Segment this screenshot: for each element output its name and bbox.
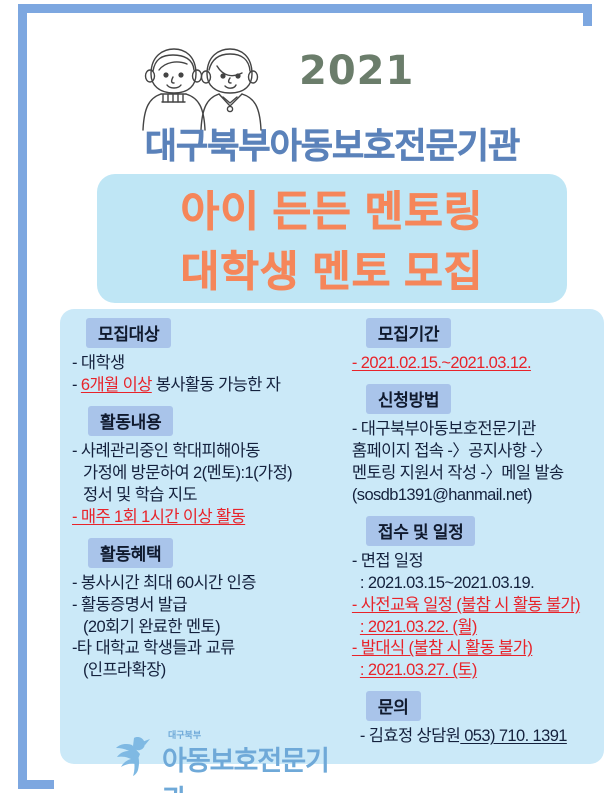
section-heading: 접수 및 일정 [366, 516, 476, 546]
section-line: -타 대학교 학생들과 교류 [72, 638, 346, 660]
title-banner: 아이 든든 멘토링 대학생 멘토 모집 [97, 174, 567, 303]
section-line: (20회기 완료한 멘토) [72, 617, 346, 639]
title-line-1: 아이 든든 멘토링 [97, 182, 567, 242]
year-label: 2021 [299, 48, 414, 94]
section-line-highlight: - 매주 1회 1시간 이상 활동 [72, 507, 346, 529]
section-line: - 봉사시간 최대 60시간 인증 [72, 573, 346, 595]
right-column: 모집기간 - 2021.02.15.~2021.03.12. 신청방법 - 대구… [346, 318, 600, 760]
section-line: - 사례관리중인 학대피해아동 [72, 441, 346, 463]
section-line: - 대구북부아동보호전문기관 [352, 419, 600, 441]
section-heading: 모집기간 [366, 318, 451, 348]
section-line-highlight: - 발대식 (불참 시 활동 불가) [352, 638, 600, 660]
section-activity-benefit: 활동혜택 - 봉사시간 최대 60시간 인증 - 활동증명서 발급 (20회기 … [72, 538, 346, 683]
section-heading: 활동혜택 [88, 538, 173, 568]
footer-logo: 대구북부 아동보호전문기관 [112, 726, 342, 784]
section-line: 멘토링 지원서 작성 -〉메일 발송 [352, 463, 600, 485]
section-line: (인프라확장) [72, 660, 346, 682]
section-heading: 신청방법 [366, 384, 451, 414]
poster-header: 2021 대구북부아동보호전문기관 [54, 26, 610, 166]
section-line: 홈페이지 접속 -〉공지사항 -〉 [352, 441, 600, 463]
poster-root: 2021 대구북부아동보호전문기관 아이 든든 멘토링 대학생 멘토 모집 모집… [0, 0, 610, 805]
line-suffix: 봉사활동 가능한 자 [152, 376, 281, 394]
contact-phone: 053) 710. 1391 [460, 727, 567, 745]
section-line-email: (sosdb1391@hanmail.net) [352, 485, 600, 507]
line-highlight: - 사전교육 일정 (불참 시 활동 불가) [352, 596, 580, 614]
poster-outer-frame: 2021 대구북부아동보호전문기관 아이 든든 멘토링 대학생 멘토 모집 모집… [18, 4, 592, 789]
section-line-contact: - 김효정 상담원 053) 710. 1391 [352, 726, 600, 748]
section-activity-content: 활동내용 - 사례관리중인 학대피해아동 가정에 방문하여 2(멘토):1(가정… [72, 406, 346, 529]
section-line-highlight: - 사전교육 일정 (불참 시 활동 불가) [352, 595, 600, 617]
section-application-method: 신청방법 - 대구북부아동보호전문기관 홈페이지 접속 -〉공지사항 -〉 멘토… [352, 384, 600, 507]
line-highlight: - 발대식 (불참 시 활동 불가) [352, 639, 532, 657]
section-line: - 활동증명서 발급 [72, 595, 346, 617]
section-line-highlight: - 2021.02.15.~2021.03.12. [352, 353, 600, 375]
section-line: 정서 및 학습 지도 [72, 485, 346, 507]
section-heading: 모집대상 [86, 318, 171, 348]
section-line: - 면접 일정 [352, 551, 600, 573]
section-line: - 6개월 이상 봉사활동 가능한 자 [72, 375, 346, 397]
section-recruit-period: 모집기간 - 2021.02.15.~2021.03.12. [352, 318, 600, 375]
poster-inner-canvas: 2021 대구북부아동보호전문기관 아이 든든 멘토링 대학생 멘토 모집 모집… [54, 26, 610, 793]
line-highlight: 6개월 이상 [81, 376, 152, 394]
line-highlight: : 2021.03.22. (월) [360, 618, 477, 636]
line-highlight: - 2021.02.15.~2021.03.12. [352, 354, 531, 372]
bird-logo-icon [112, 732, 158, 778]
section-heading: 문의 [366, 691, 421, 721]
section-line: : 2021.03.15~2021.03.19. [352, 573, 600, 595]
line-highlight: : 2021.03.27. (토) [360, 661, 477, 679]
contact-name: - 김효정 상담원 [360, 727, 460, 745]
section-line: - 대학생 [72, 353, 346, 375]
section-line-highlight: : 2021.03.27. (토) [352, 660, 600, 682]
section-contact: 문의 - 김효정 상담원 053) 710. 1391 [352, 691, 600, 748]
section-schedule: 접수 및 일정 - 면접 일정 : 2021.03.15~2021.03.19.… [352, 516, 600, 683]
organization-name: 대구북부아동보호전문기관 [54, 118, 610, 169]
section-line: 가정에 방문하여 2(멘토):1(가정) [72, 463, 346, 485]
section-heading: 활동내용 [88, 406, 173, 436]
line-highlight: - 매주 1회 1시간 이상 활동 [72, 508, 245, 526]
left-column: 모집대상 - 대학생 - 6개월 이상 봉사활동 가능한 자 활동내용 - 사례… [64, 318, 346, 760]
content-panel: 모집대상 - 대학생 - 6개월 이상 봉사활동 가능한 자 활동내용 - 사례… [60, 309, 604, 764]
section-recruit-target: 모집대상 - 대학생 - 6개월 이상 봉사활동 가능한 자 [72, 318, 346, 397]
title-line-2: 대학생 멘토 모집 [97, 242, 567, 302]
line-prefix: - [72, 376, 81, 394]
section-line-highlight: : 2021.03.22. (월) [352, 617, 600, 639]
logo-main-label: 아동보호전문기관 [162, 739, 342, 793]
